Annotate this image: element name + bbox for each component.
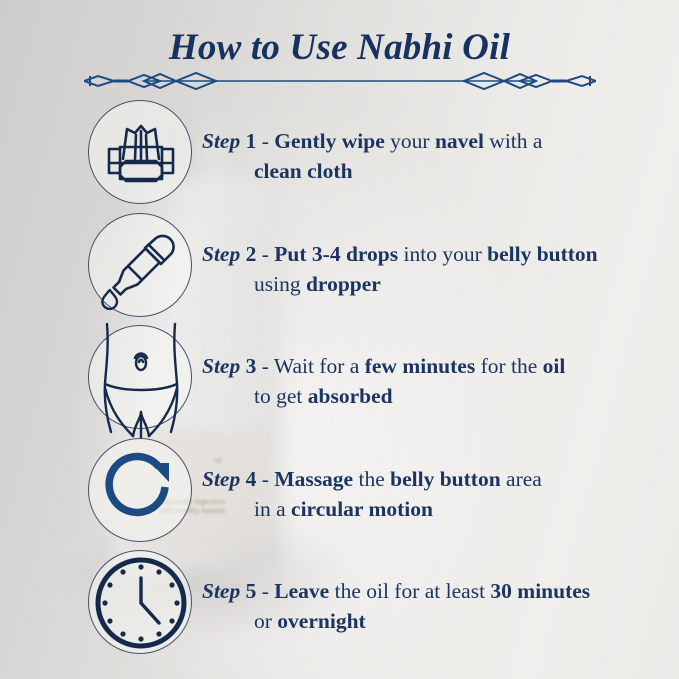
dropper-icon (89, 214, 193, 318)
step-line1-1: Gently wipe your navel with a (274, 129, 542, 153)
circular-arrow-icon (89, 439, 193, 543)
step-line1-4: Massage the belly button area (274, 467, 542, 491)
step-text-3: Step 3 - Wait for a few minutes for the … (202, 351, 672, 411)
step-label-3: Step 3 - (202, 354, 274, 378)
step-line2-4: in a circular motion (202, 494, 672, 524)
step-label-4: Step 4 - (202, 467, 274, 491)
step-line2-3: to get absorbed (202, 381, 672, 411)
page-title: How to Use Nabhi Oil (0, 26, 679, 69)
step-icon-circle-3 (88, 325, 192, 429)
step-line2-2: using dropper (202, 269, 672, 299)
step-icon-circle-5 (88, 550, 192, 654)
step-icon-circle-2 (88, 213, 192, 317)
step-line1-5: Leave the oil for at least 30 minutes (274, 579, 590, 603)
step-label-1: Step 1 - (202, 129, 274, 153)
step-text-5: Step 5 - Leave the oil for at least 30 m… (202, 576, 672, 636)
step-label-2: Step 2 - (202, 242, 274, 266)
infographic-page: oil Improved digestion and healthy bowel… (0, 0, 679, 679)
clock-icon (89, 551, 193, 655)
step-label-5: Step 5 - (202, 579, 274, 603)
belly-torso-icon (89, 326, 193, 430)
ornamental-divider (84, 70, 596, 92)
step-icon-circle-1 (88, 100, 192, 204)
step-text-2: Step 2 - Put 3-4 drops into your belly b… (202, 239, 672, 299)
step-text-4: Step 4 - Massage the belly button area i… (202, 464, 672, 524)
step-line1-2: Put 3-4 drops into your belly button (274, 242, 597, 266)
step-icon-circle-4 (88, 438, 192, 542)
step-line2-5: or overnight (202, 606, 672, 636)
step-line2-1: clean cloth (202, 156, 672, 186)
tissue-box-icon (89, 101, 193, 205)
step-text-1: Step 1 - Gently wipe your navel with a c… (202, 126, 672, 186)
step-line1-3: Wait for a few minutes for the oil (274, 354, 565, 378)
